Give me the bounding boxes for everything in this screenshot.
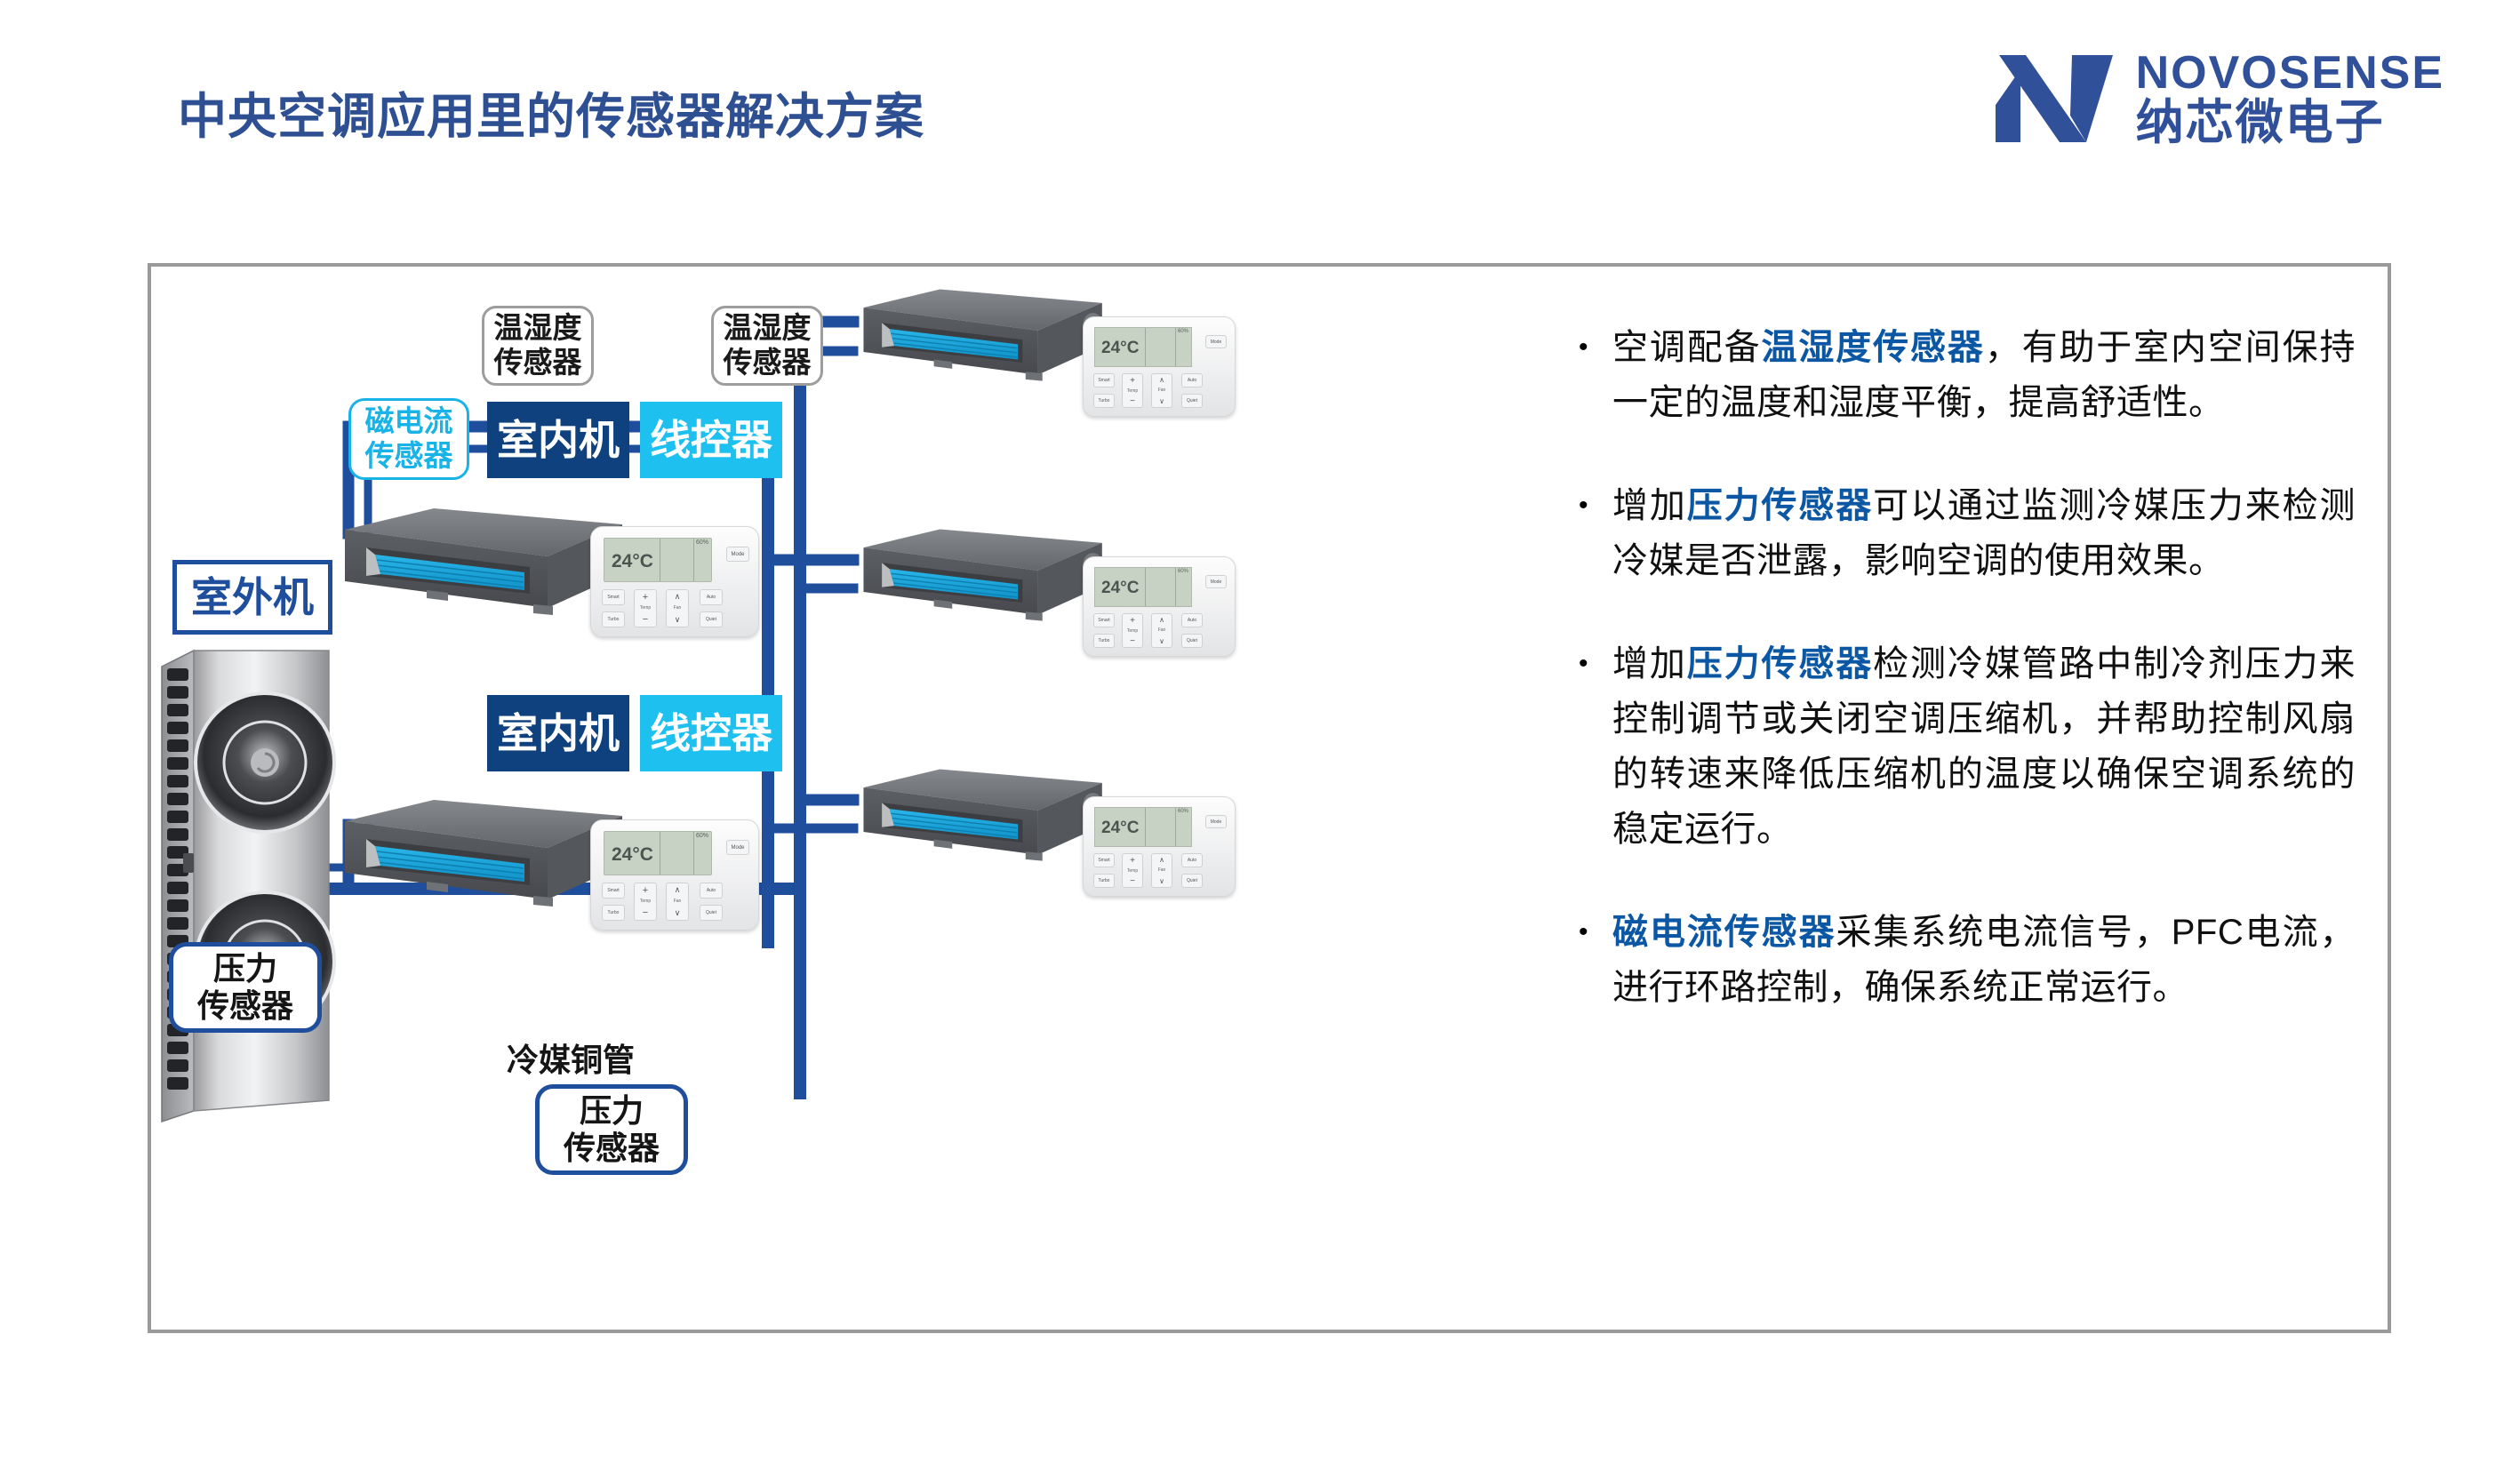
label-line-1: 温湿度 [724, 311, 812, 346]
label-line-1: 温湿度 [494, 311, 582, 346]
controller-humidity: 60% [1178, 569, 1188, 574]
label-line-2: 传感器 [365, 439, 453, 474]
wired-controller[interactable]: 24°C 60% Mode Smart Turbo + Temp − ∧ [590, 526, 759, 637]
temp-minus-button[interactable]: − [1130, 636, 1135, 646]
label-line-2: 传感器 [724, 346, 812, 380]
mode-button[interactable]: Mode [1205, 815, 1227, 828]
smart-saver-button[interactable]: Smart [1093, 613, 1115, 627]
temp-minus-button[interactable]: − [1130, 396, 1135, 406]
bullet-marker: • [1573, 320, 1612, 430]
smart-saver-button[interactable]: Smart [602, 883, 625, 899]
lcd-divider [660, 539, 660, 581]
controller-lcd: 24°C 60% [1094, 327, 1192, 367]
fan-up-button[interactable]: ∧ [675, 885, 681, 895]
logo-chinese: 纳芯微电子 [2136, 98, 2444, 148]
slide-root: 中央空调应用里的传感器解决方案 NOVOSENSE 纳芯微电子 [0, 0, 2520, 1470]
page-title: 中央空调应用里的传感器解决方案 [178, 76, 924, 148]
indoor-duct-unit-artwork [863, 529, 1102, 620]
temp-plus-button[interactable]: + [643, 592, 648, 603]
auto-clean-button[interactable]: Auto [1181, 613, 1203, 627]
temp-plus-button[interactable]: + [643, 885, 648, 896]
indoor-duct-unit-artwork [863, 769, 1102, 860]
quiet-button[interactable]: Quiet [1181, 874, 1203, 888]
controller-temperature: 24°C [612, 844, 653, 866]
temp-plus-button[interactable]: + [1130, 856, 1135, 866]
bullet-segment: 空调配备 [1612, 328, 1761, 367]
label-line-1: 压力 [213, 950, 277, 987]
label-wired-controller-top: 线控器 [640, 402, 782, 478]
lcd-divider [1175, 328, 1176, 366]
quiet-button[interactable]: Quiet [1181, 634, 1203, 648]
fan-up-button[interactable]: ∧ [1159, 376, 1164, 384]
lcd-divider [1175, 808, 1176, 846]
controller-lcd: 24°C 60% [604, 538, 712, 582]
turbo-button[interactable]: Turbo [1093, 874, 1115, 888]
temp-label: Temp [640, 605, 651, 611]
bullet-segment-highlight: 压力传感器 [1687, 486, 1873, 525]
temp-stepper[interactable]: + Temp − [1122, 853, 1143, 888]
turbo-button[interactable]: Turbo [602, 611, 625, 627]
fan-stepper[interactable]: ∧ Fan ∨ [1151, 613, 1172, 648]
fan-label: Fan [1158, 387, 1166, 393]
label-text: 室内机 [497, 709, 620, 757]
bullet-item: • 增加压力传感器可以通过监测冷媒压力来检测冷媒是否泄露，影响空调的使用效果。 [1573, 478, 2356, 588]
bullet-text: 增加压力传感器可以通过监测冷媒压力来检测冷媒是否泄露，影响空调的使用效果。 [1612, 478, 2356, 588]
wired-controller[interactable]: 24°C 60% Mode Smart Turbo + Temp − ∧ [1083, 796, 1236, 897]
bullet-text: 空调配备温湿度传感器，有助于室内空间保持一定的温度和湿度平衡，提高舒适性。 [1612, 320, 2356, 430]
temp-label: Temp [1127, 628, 1138, 634]
temp-minus-button[interactable]: − [643, 614, 648, 625]
bullet-segment: 增加 [1612, 644, 1687, 683]
fan-stepper[interactable]: ∧ Fan ∨ [666, 883, 689, 921]
lcd-divider [1175, 568, 1176, 606]
controller-humidity: 60% [1178, 329, 1188, 334]
label-temp-humidity-sensor-2: 温湿度 传感器 [711, 306, 823, 386]
wired-controller[interactable]: 24°C 60% Mode Smart Turbo + Temp − ∧ [590, 819, 759, 931]
wired-controller[interactable]: 24°C 60% Mode Smart Turbo + Temp − ∧ [1083, 556, 1236, 657]
indoor-duct-unit-artwork [345, 508, 623, 615]
fan-stepper[interactable]: ∧ Fan ∨ [1151, 853, 1172, 888]
fan-up-button[interactable]: ∧ [1159, 856, 1164, 864]
bullet-segment-highlight: 温湿度传感器 [1761, 328, 1984, 367]
label-line-1: 磁电流 [365, 404, 453, 439]
bullet-item: • 空调配备温湿度传感器，有助于室内空间保持一定的温度和湿度平衡，提高舒适性。 [1573, 320, 2356, 430]
label-line-1: 压力 [580, 1092, 644, 1130]
label-text: 冷媒铜管 [507, 1042, 635, 1079]
label-magnetic-current-sensor: 磁电流 传感器 [348, 398, 469, 480]
controller-lcd: 24°C 60% [1094, 807, 1192, 847]
logo-wordmark: NOVOSENSE 纳芯微电子 [2136, 49, 2444, 148]
temp-minus-button[interactable]: − [643, 907, 648, 918]
temp-stepper[interactable]: + Temp − [634, 589, 657, 627]
bullet-text: 磁电流传感器采集系统电流信号，PFC电流，进行环路控制，确保系统正常运行。 [1612, 905, 2356, 1015]
feature-bullet-list: • 空调配备温湿度传感器，有助于室内空间保持一定的温度和湿度平衡，提高舒适性。 … [1573, 320, 2356, 1063]
label-temp-humidity-sensor-1: 温湿度 传感器 [482, 306, 594, 386]
label-pressure-sensor-outdoor: 压力 传感器 [169, 942, 322, 1033]
smart-saver-button[interactable]: Smart [602, 589, 625, 605]
fan-label: Fan [1158, 627, 1166, 633]
fan-down-button[interactable]: ∨ [1159, 397, 1164, 405]
fan-label: Fan [1158, 867, 1166, 873]
mode-button[interactable]: Mode [726, 840, 749, 855]
controller-humidity: 60% [696, 833, 708, 839]
temp-label: Temp [640, 899, 651, 904]
fan-down-button[interactable]: ∨ [1159, 877, 1164, 885]
lcd-divider [693, 539, 694, 581]
lcd-divider [1145, 328, 1146, 366]
fan-down-button[interactable]: ∨ [675, 615, 681, 625]
lcd-divider [1145, 808, 1146, 846]
fan-up-button[interactable]: ∧ [675, 592, 681, 602]
bullet-segment-highlight: 磁电流传感器 [1612, 913, 1836, 952]
bullet-item: • 磁电流传感器采集系统电流信号，PFC电流，进行环路控制，确保系统正常运行。 [1573, 905, 2356, 1015]
logo-english: NOVOSENSE [2136, 49, 2444, 98]
bullet-segment-highlight: 压力传感器 [1687, 644, 1873, 683]
turbo-button[interactable]: Turbo [1093, 634, 1115, 648]
fan-label: Fan [674, 605, 682, 611]
lcd-divider [693, 832, 694, 875]
label-line-2: 传感器 [564, 1130, 660, 1167]
controller-humidity: 60% [696, 539, 708, 546]
label-pressure-sensor-pipe: 压力 传感器 [535, 1084, 688, 1175]
label-text: 室外机 [191, 573, 314, 621]
controller-temperature: 24°C [612, 551, 653, 572]
auto-clean-button[interactable]: Auto [1181, 373, 1203, 387]
fan-down-button[interactable]: ∨ [1159, 637, 1164, 645]
mode-button[interactable]: Mode [1205, 335, 1227, 348]
fan-up-button[interactable]: ∧ [1159, 616, 1164, 624]
fan-down-button[interactable]: ∨ [675, 908, 681, 918]
indoor-duct-unit-artwork [863, 289, 1102, 380]
controller-lcd: 24°C 60% [1094, 567, 1192, 607]
wired-controller[interactable]: 24°C 60% Mode Smart Turbo + Temp − ∧ [1083, 316, 1236, 417]
brand-logo: NOVOSENSE 纳芯微电子 [1994, 49, 2444, 148]
lcd-divider [660, 832, 660, 875]
novosense-n-mark-icon [1994, 50, 2118, 148]
auto-clean-button[interactable]: Auto [700, 883, 723, 899]
label-indoor-unit-top: 室内机 [487, 402, 629, 478]
label-line-2: 传感器 [197, 987, 293, 1025]
temp-plus-button[interactable]: + [1130, 616, 1135, 626]
bullet-marker: • [1573, 478, 1612, 588]
temp-minus-button[interactable]: − [1130, 876, 1135, 886]
bullet-item: • 增加压力传感器检测冷媒管路中制冷剂压力来控制调节或关闭空调压缩机，并帮助控制… [1573, 636, 2356, 857]
content-frame: 24°C 60% Mode Smart Turbo + Temp − ∧ [148, 263, 2391, 1333]
turbo-button[interactable]: Turbo [1093, 394, 1115, 408]
turbo-button[interactable]: Turbo [602, 905, 625, 921]
label-line-2: 传感器 [494, 346, 582, 380]
mode-button[interactable]: Mode [1205, 575, 1227, 588]
controller-lcd: 24°C 60% [604, 831, 712, 875]
quiet-button[interactable]: Quiet [700, 905, 723, 921]
bullet-marker: • [1573, 636, 1612, 857]
bullet-text: 增加压力传感器检测冷媒管路中制冷剂压力来控制调节或关闭空调压缩机，并帮助控制风扇… [1612, 636, 2356, 857]
controller-temperature: 24°C [1101, 579, 1139, 598]
label-text: 线控器 [650, 416, 772, 464]
quiet-button[interactable]: Quiet [700, 611, 723, 627]
temp-stepper[interactable]: + Temp − [1122, 613, 1143, 648]
label-indoor-unit-mid: 室内机 [487, 695, 629, 771]
fan-label: Fan [674, 899, 682, 904]
auto-clean-button[interactable]: Auto [700, 589, 723, 605]
lcd-divider [1145, 568, 1146, 606]
fan-stepper[interactable]: ∧ Fan ∨ [1151, 373, 1172, 408]
controller-humidity: 60% [1178, 809, 1188, 814]
fan-stepper[interactable]: ∧ Fan ∨ [666, 589, 689, 627]
temp-plus-button[interactable]: + [1130, 376, 1135, 386]
label-refrigerant-copper-pipe: 冷媒铜管 [482, 1040, 660, 1081]
temp-stepper[interactable]: + Temp − [634, 883, 657, 921]
bullet-segment: 增加 [1612, 486, 1687, 525]
label-text: 线控器 [650, 709, 772, 757]
auto-clean-button[interactable]: Auto [1181, 853, 1203, 867]
controller-temperature: 24°C [1101, 819, 1139, 838]
temp-label: Temp [1127, 388, 1138, 394]
smart-saver-button[interactable]: Smart [1093, 373, 1115, 387]
quiet-button[interactable]: Quiet [1181, 394, 1203, 408]
temp-label: Temp [1127, 868, 1138, 874]
hvac-system-diagram: 24°C 60% Mode Smart Turbo + Temp − ∧ [151, 267, 1538, 1333]
label-text: 室内机 [497, 416, 620, 464]
temp-stepper[interactable]: + Temp − [1122, 373, 1143, 408]
bullet-marker: • [1573, 905, 1612, 1015]
label-wired-controller-mid: 线控器 [640, 695, 782, 771]
controller-temperature: 24°C [1101, 339, 1139, 358]
outdoor-unit-artwork [162, 651, 334, 1122]
smart-saver-button[interactable]: Smart [1093, 853, 1115, 867]
mode-button[interactable]: Mode [726, 547, 749, 562]
label-outdoor-unit: 室外机 [172, 560, 332, 635]
